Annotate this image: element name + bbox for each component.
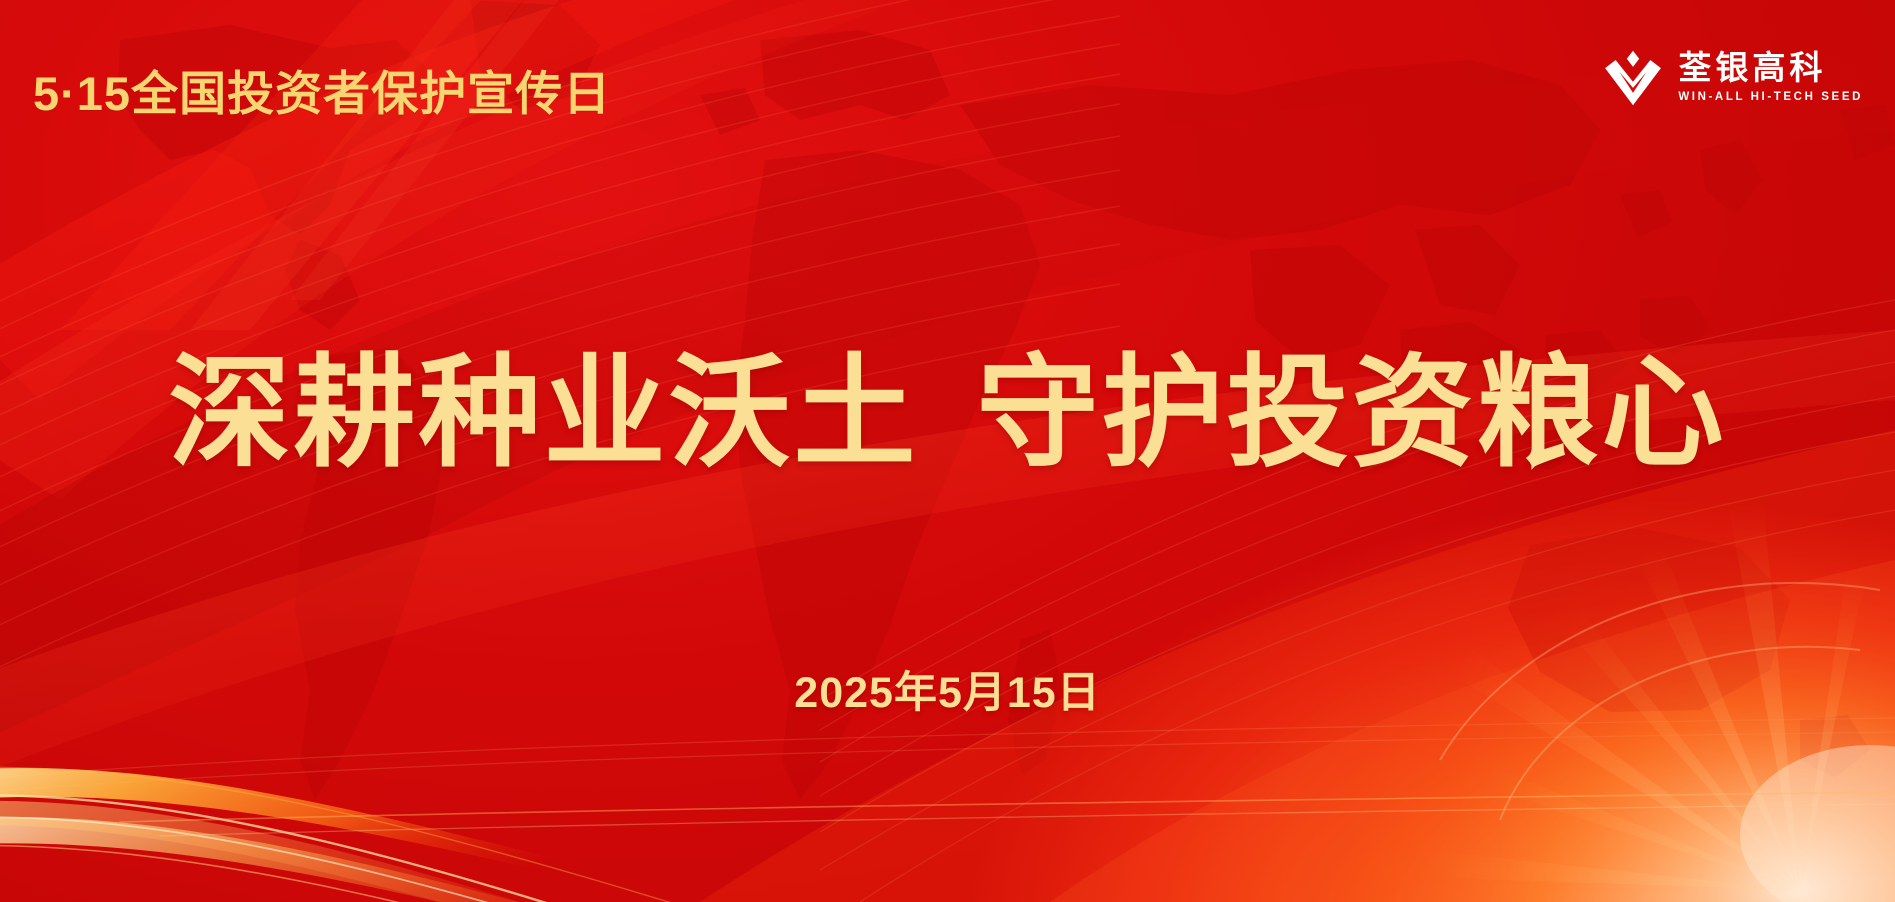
company-logo: 荃银高科 WIN-ALL HI-TECH SEED bbox=[1602, 47, 1863, 109]
banner-content: 5·15全国投资者保护宣传日 深耕种业沃土守护投资粮心 2025年5月15日 荃… bbox=[0, 0, 1895, 902]
event-date: 2025年5月15日 bbox=[0, 658, 1895, 720]
banner-root: 5·15全国投资者保护宣传日 深耕种业沃土守护投资粮心 2025年5月15日 荃… bbox=[0, 0, 1895, 902]
brand-name-en: WIN-ALL HI-TECH SEED bbox=[1678, 89, 1863, 105]
campaign-subtitle: 5·15全国投资者保护宣传日 bbox=[33, 55, 611, 124]
brand-name-cn: 荃银高科 bbox=[1678, 51, 1863, 86]
seed-chevron-icon bbox=[1602, 47, 1664, 109]
main-title: 深耕种业沃土守护投资粮心 bbox=[0, 352, 1895, 474]
main-title-part-1: 深耕种业沃土 bbox=[169, 345, 919, 481]
brand-text-block: 荃银高科 WIN-ALL HI-TECH SEED bbox=[1678, 51, 1863, 105]
main-title-part-2: 守护投资粮心 bbox=[977, 345, 1727, 481]
